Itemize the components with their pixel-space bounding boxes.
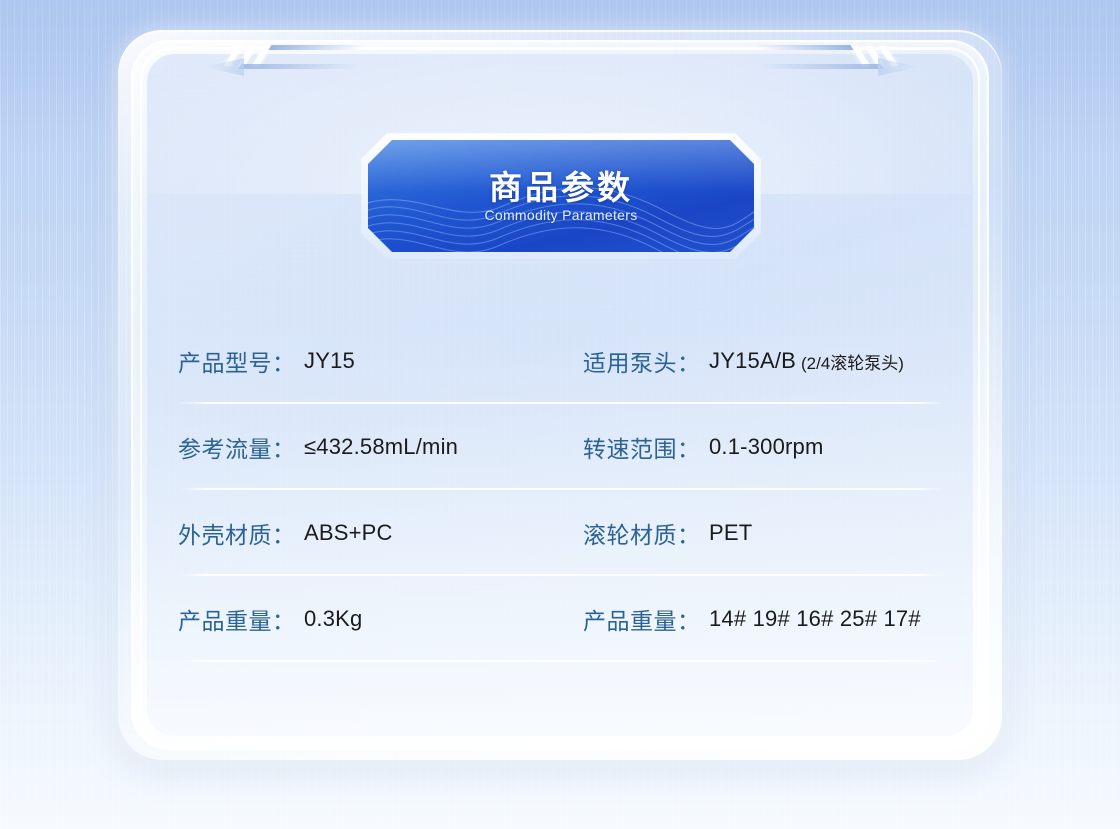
param-colon: ： [677,516,709,550]
param-label: 产品重量 [178,602,272,636]
param-cell-product-model: 产品型号 ： JY15 [178,318,583,404]
param-colon: ： [272,516,304,550]
param-colon: ： [272,344,304,378]
table-row: 产品型号 ： JY15 适用泵头 ： JY15A/B (2/4滚轮泵头) [178,318,946,404]
param-value: ABS+PC [304,520,393,546]
param-value: 0.1-300rpm [709,434,824,460]
table-row: 产品重量 ： 0.3Kg 产品重量 ： 14# 19# 16# 25# 17# [178,576,946,662]
param-cell-product-weight: 产品重量 ： 0.3Kg [178,576,583,662]
param-cell-roller-material: 滚轮材质 ： PET [583,490,946,576]
param-colon: ： [272,602,304,636]
param-cell-reference-flow: 参考流量 ： ≤432.58mL/min [178,404,583,490]
param-cell-speed-range: 转速范围 ： 0.1-300rpm [583,404,946,490]
param-colon: ： [677,344,709,378]
title-banner: 商品参数 Commodity Parameters [368,140,754,252]
param-label: 滚轮材质 [583,516,677,550]
param-value: JY15A/B [709,348,796,374]
param-colon: ： [677,602,709,636]
param-value: JY15 [304,348,355,374]
param-cell-pump-head: 适用泵头 ： JY15A/B (2/4滚轮泵头) [583,318,946,404]
param-label: 产品型号 [178,344,272,378]
param-value: PET [709,520,752,546]
param-label: 外壳材质 [178,516,272,550]
param-note: (2/4滚轮泵头) [796,349,904,374]
param-value: 14# 19# 16# 25# 17# [709,606,921,632]
parameters-grid: 产品型号 ： JY15 适用泵头 ： JY15A/B (2/4滚轮泵头) 参考流… [178,318,946,662]
banner-title: 商品参数 [489,169,633,207]
param-value: 0.3Kg [304,606,363,632]
banner-body: 商品参数 Commodity Parameters [368,140,754,252]
param-label: 转速范围 [583,430,677,464]
param-label: 产品重量 [583,602,677,636]
param-label: 参考流量 [178,430,272,464]
param-cell-tube-sizes: 产品重量 ： 14# 19# 16# 25# 17# [583,576,946,662]
table-row: 参考流量 ： ≤432.58mL/min 转速范围 ： 0.1-300rpm [178,404,946,490]
param-colon: ： [272,430,304,464]
param-cell-shell-material: 外壳材质 ： ABS+PC [178,490,583,576]
banner-subtitle: Commodity Parameters [484,207,637,223]
param-value: ≤432.58mL/min [304,434,458,460]
table-row: 外壳材质 ： ABS+PC 滚轮材质 ： PET [178,490,946,576]
param-colon: ： [677,430,709,464]
param-label: 适用泵头 [583,344,677,378]
